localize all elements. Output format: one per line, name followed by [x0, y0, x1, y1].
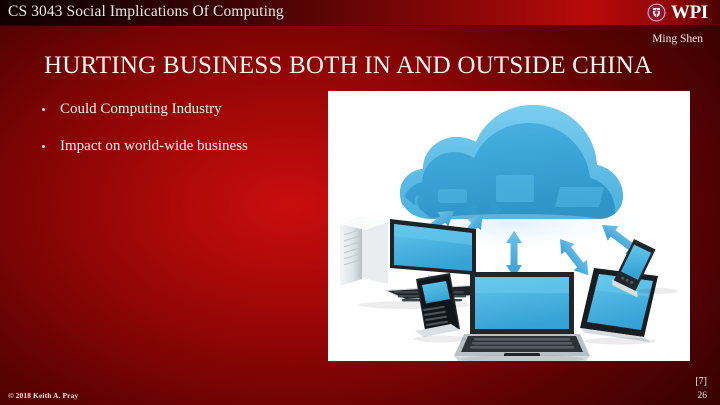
bullet-list: Could Computing Industry Impact on world… — [38, 100, 313, 174]
citation-reference: [7] — [695, 376, 707, 387]
presentation-slide: CS 3043 Social Implications Of Computing… — [0, 0, 720, 405]
course-title: CS 3043 Social Implications Of Computing — [8, 3, 284, 21]
cloud-computing-image — [328, 91, 690, 361]
presenter-name: Ming Shen — [652, 33, 703, 45]
laptop — [454, 272, 590, 361]
slide-title: HURTING BUSINESS BOTH IN AND OUTSIDE CHI… — [44, 51, 684, 81]
wpi-shield-seal-icon — [646, 2, 667, 23]
list-item: Impact on world-wide business — [38, 137, 313, 156]
wpi-wordmark: WPI — [671, 3, 708, 23]
bullet-marker-icon — [42, 108, 45, 111]
bullet-text: Impact on world-wide business — [60, 138, 248, 154]
list-item: Could Computing Industry — [38, 100, 313, 119]
bullet-marker-icon — [42, 145, 45, 148]
wpi-logo: WPI — [646, 2, 708, 23]
copyright-notice: © 2018 Keith A. Pray — [8, 391, 78, 400]
bullet-text: Could Computing Industry — [60, 101, 222, 117]
page-number: 26 — [698, 391, 708, 401]
